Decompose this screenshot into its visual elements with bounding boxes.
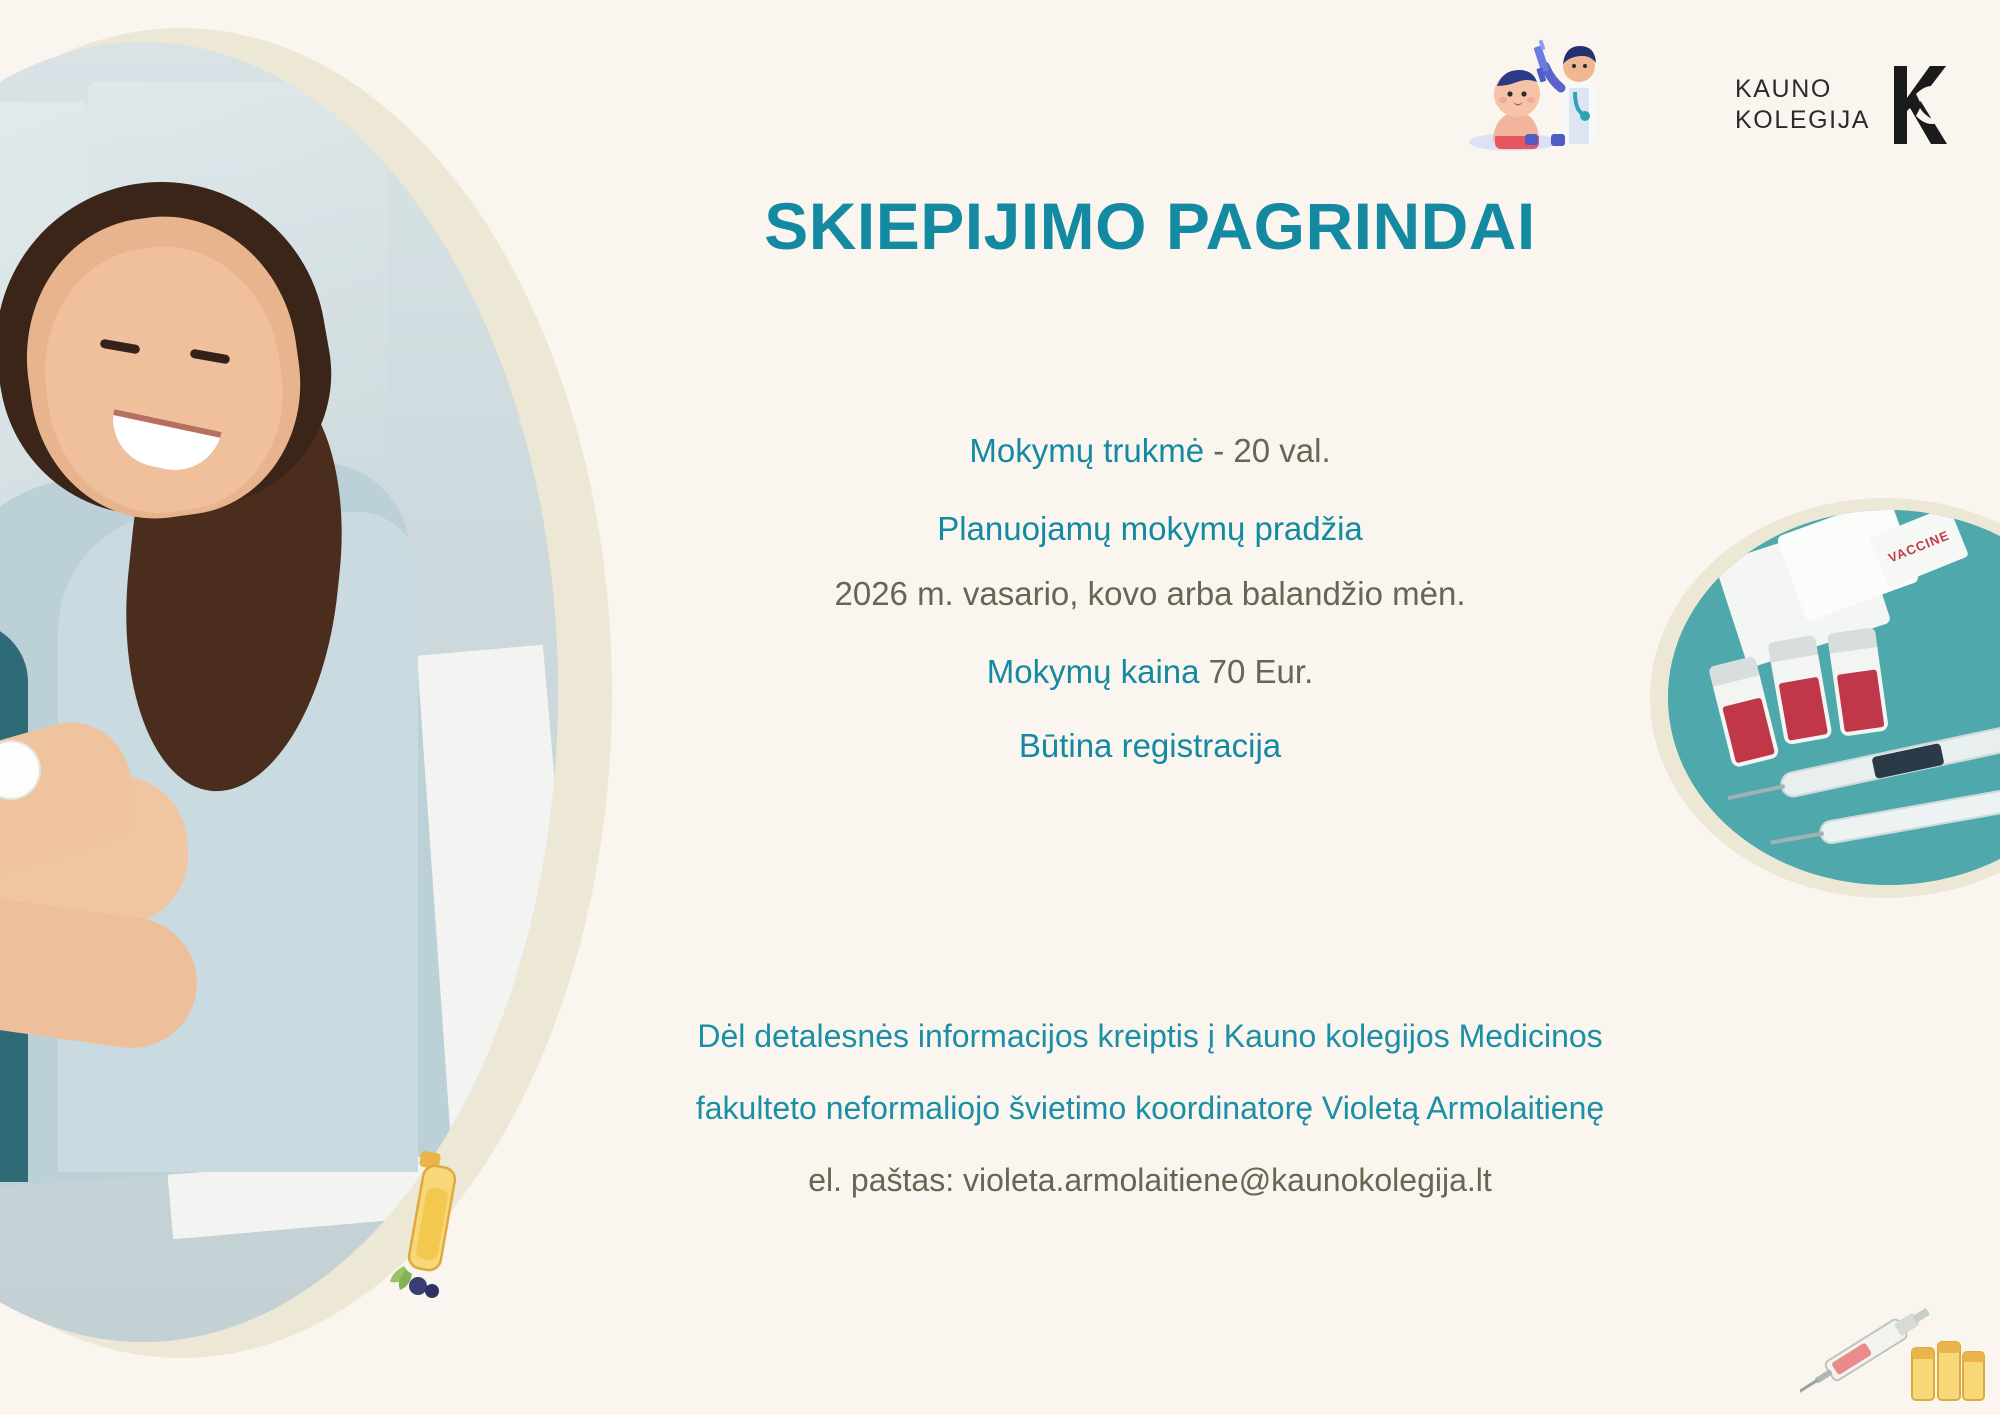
kauno-kolegija-k-mark-icon [1886, 64, 1948, 146]
page-title: SKIEPIJIMO PAGRINDAI [620, 188, 1680, 264]
logo-line-2: KOLEGIJA [1735, 105, 1870, 136]
info-start-label: Planuojamų mokymų pradžia [560, 510, 1740, 548]
info-registration: Būtina registracija [560, 727, 1740, 765]
contact-block: Dėl detalesnės informacijos kreiptis į K… [520, 1000, 1780, 1216]
syringe-vials-icon [1800, 1290, 1990, 1410]
info-start-value: 2026 m. vasario, kovo arba balandžio mėn… [560, 575, 1740, 613]
poster-canvas: VACCINE [0, 0, 2000, 1414]
info-duration-value: - 20 val. [1204, 432, 1331, 469]
baby-doctor-illustration [1465, 38, 1625, 153]
photo-illustration [0, 42, 558, 1342]
kauno-kolegija-logo[interactable]: KAUNO KOLEGIJA [1735, 52, 1950, 157]
medicine-bottle-icon [388, 1148, 478, 1298]
info-duration-label: Mokymų trukmė [969, 432, 1204, 469]
contact-line-1: Dėl detalesnės informacijos kreiptis į K… [520, 1000, 1780, 1072]
course-info-block: Mokymų trukmė - 20 val. Planuojamų mokym… [560, 432, 1740, 765]
contact-email-line[interactable]: el. paštas: violeta.armolaitiene@kaunoko… [520, 1144, 1780, 1216]
logo-line-1: KAUNO [1735, 74, 1870, 105]
info-price-value: 70 Eur. [1200, 653, 1314, 690]
contact-line-2: fakulteto neformaliojo švietimo koordina… [520, 1072, 1780, 1144]
info-price: Mokymų kaina 70 Eur. [560, 653, 1740, 691]
info-duration: Mokymų trukmė - 20 val. [560, 432, 1740, 470]
photo-oval-mother-child [0, 42, 558, 1342]
logo-text: KAUNO KOLEGIJA [1735, 74, 1870, 135]
info-price-label: Mokymų kaina [987, 653, 1200, 690]
